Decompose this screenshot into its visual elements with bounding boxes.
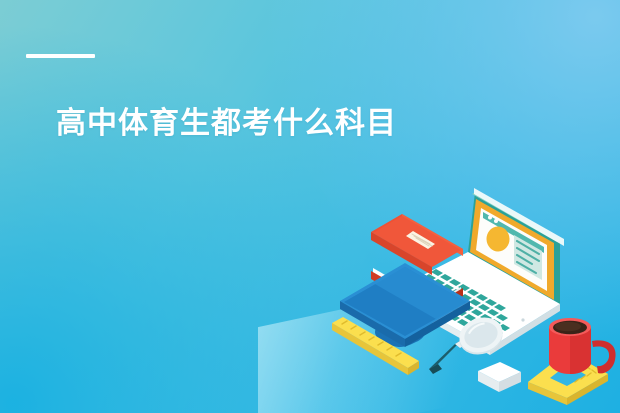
page-title: 高中体育生都考什么科目	[56, 104, 397, 144]
article-cover-banner: 高中体育生都考什么科目	[0, 0, 620, 413]
accent-rule	[26, 54, 95, 58]
eraser-icon	[478, 362, 521, 392]
isometric-study-desk-illustration	[318, 172, 620, 413]
coffee-mug-icon	[549, 318, 616, 374]
